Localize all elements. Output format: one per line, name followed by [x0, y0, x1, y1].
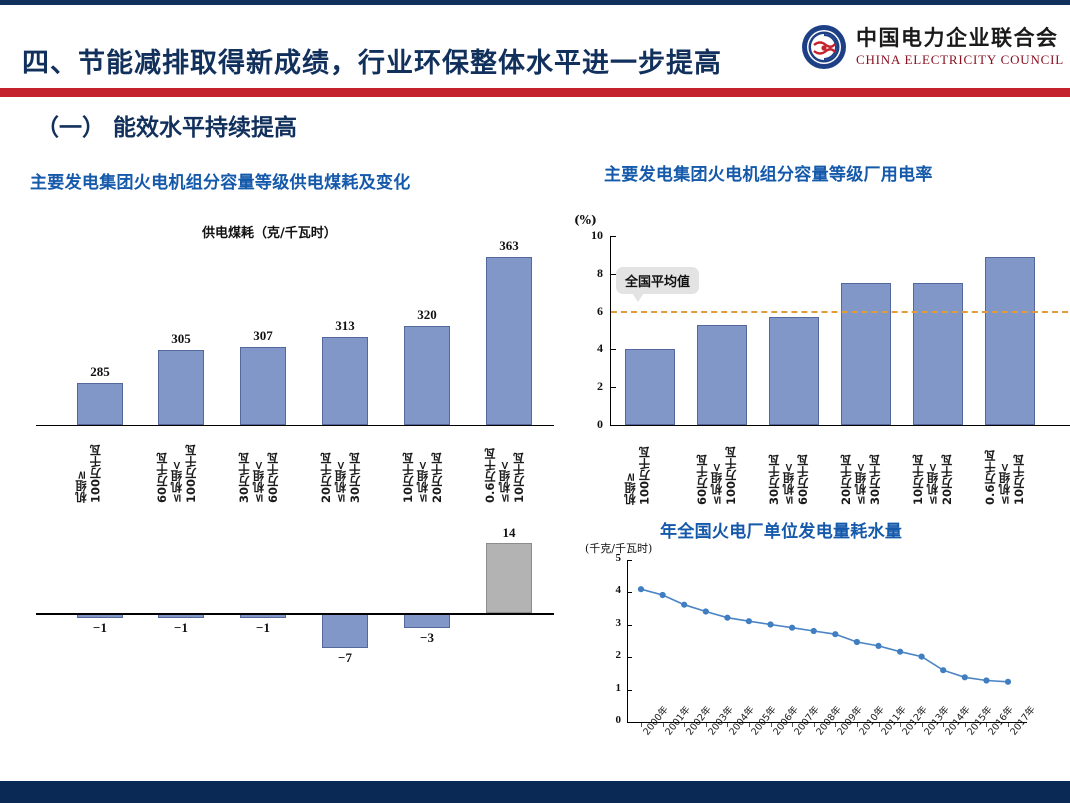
water-chart-title: 年全国火电厂单位发电量耗水量: [660, 517, 902, 542]
bar-value-change-3: −7: [314, 650, 376, 666]
logo-chinese-name: 中国电力企业联合会: [856, 28, 1064, 49]
bar-coal-5: [486, 257, 532, 425]
bar-coal-3: [322, 337, 368, 425]
slide-header: 四、节能减排取得新成绩，行业环保整体水平进一步提高 中国电力企业联合会 CHIN…: [0, 5, 1070, 88]
aux-category-4: 10万千瓦 ≤机组< 20万千瓦: [911, 431, 967, 505]
change-zero-axis: [36, 613, 554, 615]
bar-aux-1: [697, 325, 747, 425]
water-ytick-0: 0: [601, 714, 621, 726]
aux-ytick-8: 8: [570, 266, 603, 281]
aux-category-0: 机组≥ 100万千瓦: [623, 431, 679, 505]
water-point-7: [789, 625, 795, 631]
water-ytick-3: 3: [601, 617, 621, 629]
bar-value-coal-2: 307: [232, 328, 294, 344]
right-chart-title: 主要发电集团火电机组分容量等级厂用电率: [604, 160, 933, 185]
water-point-16: [983, 677, 989, 683]
bar-aux-2: [769, 317, 819, 425]
bar-value-change-2: −1: [232, 620, 294, 636]
coal-category-2: 30万千瓦 ≤机组< 60万千瓦: [237, 431, 291, 503]
water-point-15: [962, 674, 968, 680]
page-title: 四、节能减排取得新成绩，行业环保整体水平进一步提高: [22, 41, 722, 80]
aux-tick-4: [611, 349, 616, 350]
bar-value-coal-5: 363: [478, 238, 540, 254]
bar-value-change-5: 14: [478, 525, 540, 541]
coal-change-chart: −1−1−1−7−314: [30, 500, 560, 680]
aux-ytick-6: 6: [570, 304, 603, 319]
water-point-12: [897, 649, 903, 655]
water-point-10: [854, 639, 860, 645]
cec-seal-icon: [800, 23, 848, 71]
left-chart-title: 主要发电集团火电机组分容量等级供电煤耗及变化: [30, 168, 411, 193]
aux-tick-2: [611, 387, 616, 388]
water-point-14: [940, 667, 946, 673]
water-point-1: [660, 592, 666, 598]
bar-coal-1: [158, 350, 204, 425]
coal-chart-unit-caption: 供电煤耗（克/千瓦时）: [202, 222, 337, 241]
footer-band: [0, 781, 1070, 803]
water-ytick-4: 4: [601, 584, 621, 596]
bar-aux-4: [913, 283, 963, 425]
water-consumption-chart: (千克/千瓦时) 012345 2000年2001年2002年2003年2004…: [585, 540, 1055, 790]
water-y-axis: [627, 560, 628, 722]
national-average-callout: 全国平均值: [616, 267, 699, 294]
bar-aux-3: [841, 283, 891, 425]
bar-coal-4: [404, 326, 450, 425]
coal-category-3: 20万千瓦 ≤机组< 30万千瓦: [319, 431, 373, 503]
coal-category-0: 机组≥ 100万千瓦: [74, 431, 128, 503]
water-point-6: [767, 621, 773, 627]
section-heading: （一） 能效水平持续提高: [36, 108, 297, 142]
header-red-stripe: [0, 88, 1070, 97]
aux-y-axis: [610, 236, 611, 425]
coal-x-axis: [36, 425, 554, 426]
water-point-5: [746, 618, 752, 624]
aux-tick-10: [611, 236, 616, 237]
bar-value-coal-4: 320: [396, 307, 458, 323]
water-point-3: [703, 608, 709, 614]
bar-change-3: [322, 613, 368, 648]
water-tick-2: [628, 657, 632, 658]
bar-value-change-1: −1: [150, 620, 212, 636]
coal-category-4: 10万千瓦 ≤机组< 20万千瓦: [401, 431, 455, 503]
water-tick-4: [628, 592, 632, 593]
bar-value-coal-0: 285: [69, 364, 131, 380]
aux-ytick-0: 0: [570, 417, 603, 432]
water-line-series: [585, 540, 1055, 790]
auxiliary-power-chart: (%) 0246810 全国平均值 机组≥ 100万千瓦60万千瓦 ≤机组< 1…: [570, 205, 1060, 505]
water-point-0: [638, 586, 644, 592]
bar-change-5: [486, 543, 532, 613]
national-average-line: [611, 311, 1070, 313]
bar-coal-0: [77, 383, 123, 425]
bar-change-4: [404, 613, 450, 628]
aux-category-1: 60万千瓦 ≤机组< 100万千瓦: [695, 431, 751, 505]
logo-text-block: 中国电力企业联合会 CHINA ELECTRICITY COUNCIL: [856, 28, 1064, 66]
aux-category-5: 0.6万千瓦 ≤机组< 10万千瓦: [983, 431, 1039, 505]
water-ytick-1: 1: [601, 682, 621, 694]
bar-value-change-0: −1: [69, 620, 131, 636]
aux-ytick-10: 10: [570, 228, 603, 243]
water-tick-5: [628, 560, 632, 561]
water-point-4: [724, 615, 730, 621]
coal-category-5: 0.6万千瓦 ≤机组< 10万千瓦: [483, 431, 537, 503]
water-tick-1: [628, 690, 632, 691]
aux-y-unit: (%): [574, 213, 597, 227]
bar-aux-5: [985, 257, 1035, 425]
coal-consumption-chart: 供电煤耗（克/千瓦时） 285305307313320363 机组≥ 100万千…: [30, 200, 560, 500]
aux-category-2: 30万千瓦 ≤机组< 60万千瓦: [767, 431, 823, 505]
bar-value-coal-3: 313: [314, 318, 376, 334]
logo-english-name: CHINA ELECTRICITY COUNCIL: [856, 53, 1064, 66]
water-point-11: [875, 643, 881, 649]
slide-root: 四、节能减排取得新成绩，行业环保整体水平进一步提高 中国电力企业联合会 CHIN…: [0, 0, 1070, 803]
coal-category-1: 60万千瓦 ≤机组< 100万千瓦: [155, 431, 209, 503]
organization-logo: 中国电力企业联合会 CHINA ELECTRICITY COUNCIL: [800, 23, 1064, 71]
water-point-2: [681, 602, 687, 608]
bar-value-change-4: −3: [396, 630, 458, 646]
water-line-path: [641, 589, 1008, 682]
water-ytick-5: 5: [601, 552, 621, 564]
aux-x-axis: [610, 425, 1070, 426]
water-point-13: [919, 654, 925, 660]
water-point-17: [1005, 679, 1011, 685]
water-tick-3: [628, 625, 632, 626]
water-ytick-2: 2: [601, 649, 621, 661]
bar-coal-2: [240, 347, 286, 425]
aux-category-3: 20万千瓦 ≤机组< 30万千瓦: [839, 431, 895, 505]
water-point-9: [832, 631, 838, 637]
bar-aux-0: [625, 349, 675, 425]
aux-ytick-2: 2: [570, 379, 603, 394]
water-point-8: [811, 628, 817, 634]
aux-ytick-4: 4: [570, 341, 603, 356]
bar-value-coal-1: 305: [150, 331, 212, 347]
